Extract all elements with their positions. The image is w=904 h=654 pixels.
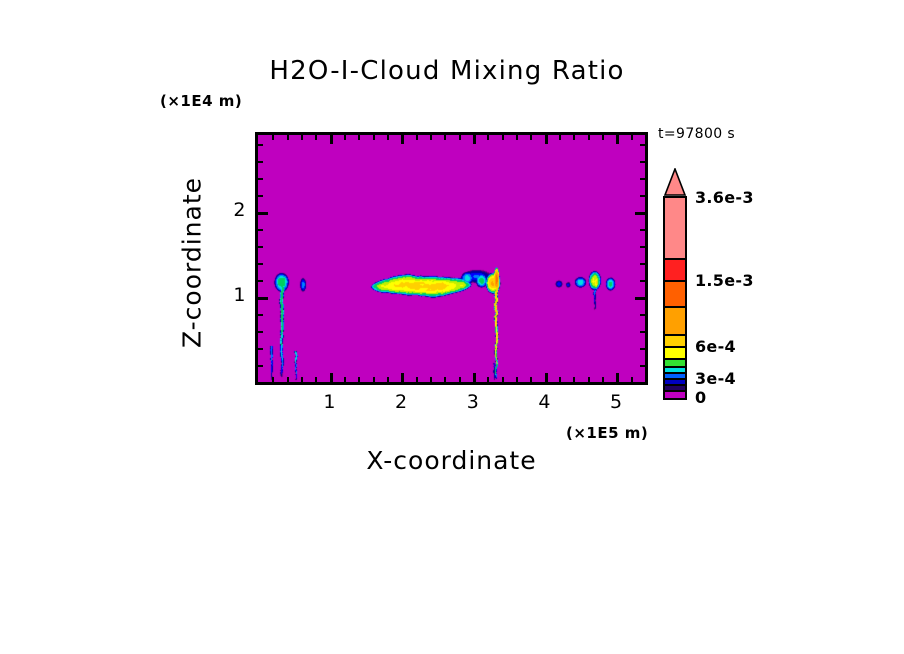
y-minor-tick-right xyxy=(640,195,645,197)
y-minor-tick-right xyxy=(640,144,645,146)
page-title: H2O-I-Cloud Mixing Ratio xyxy=(0,56,904,86)
colorbar-separator xyxy=(665,346,685,348)
y-major-tick xyxy=(258,297,268,300)
y-major-tick-right xyxy=(635,297,645,300)
x-minor-tick-top xyxy=(344,135,346,140)
x-minor-tick-top xyxy=(430,135,432,140)
colorbar-band xyxy=(665,281,685,307)
x-tick-label: 4 xyxy=(525,391,565,413)
page-title-text: H2O-I-Cloud Mixing Ratio xyxy=(269,56,624,86)
colorbar-band xyxy=(665,307,685,335)
y-tick-label: 2 xyxy=(206,199,246,221)
colorbar-band xyxy=(665,198,685,259)
x-minor-tick xyxy=(444,377,446,382)
x-minor-tick xyxy=(430,377,432,382)
x-minor-tick-top xyxy=(301,135,303,140)
colorbar-band xyxy=(665,259,685,281)
colorbar-separator xyxy=(665,280,685,282)
x-minor-tick-top xyxy=(459,135,461,140)
y-minor-tick-right xyxy=(640,348,645,350)
y-minor-tick xyxy=(258,365,263,367)
x-minor-tick xyxy=(502,377,504,382)
x-minor-tick-top xyxy=(358,135,360,140)
x-minor-tick-top xyxy=(502,135,504,140)
x-minor-tick-top xyxy=(444,135,446,140)
heatmap-canvas xyxy=(258,135,645,382)
plot-area xyxy=(255,132,648,385)
x-minor-tick-top xyxy=(631,135,633,140)
x-minor-tick-top xyxy=(387,135,389,140)
x-minor-tick xyxy=(287,377,289,382)
x-minor-tick xyxy=(573,377,575,382)
y-minor-tick xyxy=(258,331,263,333)
x-axis-title: X-coordinate xyxy=(255,446,648,475)
y-minor-tick xyxy=(258,178,263,180)
x-minor-tick-top xyxy=(416,135,418,140)
time-stamp-label: t=97800 s xyxy=(658,126,735,142)
x-minor-tick-top xyxy=(530,135,532,140)
colorbar-band xyxy=(665,391,685,398)
colorbar-tick-label: 3.6e-3 xyxy=(695,188,754,207)
colorbar-separator xyxy=(665,306,685,308)
x-major-tick xyxy=(616,373,619,382)
y-minor-tick-right xyxy=(640,263,645,265)
x-minor-tick-top xyxy=(272,135,274,140)
x-minor-tick xyxy=(516,377,518,382)
y-minor-tick-right xyxy=(640,246,645,248)
x-minor-tick xyxy=(530,377,532,382)
y-minor-tick-right xyxy=(640,178,645,180)
x-major-tick xyxy=(545,373,548,382)
colorbar-separator xyxy=(665,334,685,336)
x-major-tick xyxy=(473,373,476,382)
y-major-tick xyxy=(258,212,268,215)
colorbar-separator xyxy=(665,358,685,360)
x-major-tick-top xyxy=(545,135,548,144)
y-minor-tick xyxy=(258,263,263,265)
colorbar-tick-label: 6e-4 xyxy=(695,337,736,356)
x-minor-tick xyxy=(631,377,633,382)
y-minor-tick-right xyxy=(640,280,645,282)
y-minor-tick-right xyxy=(640,161,645,163)
colorbar-separator xyxy=(665,258,685,260)
y-minor-tick-right xyxy=(640,365,645,367)
x-axis-unit-label: (×1E5 m) xyxy=(566,424,648,442)
y-minor-tick-right xyxy=(640,314,645,316)
x-minor-tick-top xyxy=(487,135,489,140)
y-minor-tick xyxy=(258,144,263,146)
x-minor-tick xyxy=(315,377,317,382)
y-minor-tick xyxy=(258,161,263,163)
x-minor-tick xyxy=(373,377,375,382)
colorbar xyxy=(663,168,687,400)
x-tick-label: 1 xyxy=(310,391,350,413)
x-major-tick-top xyxy=(401,135,404,144)
y-minor-tick xyxy=(258,246,263,248)
x-minor-tick xyxy=(344,377,346,382)
x-minor-tick-top xyxy=(602,135,604,140)
x-tick-label: 2 xyxy=(381,391,421,413)
colorbar-tick-label: 3e-4 xyxy=(695,369,736,388)
x-minor-tick-top xyxy=(516,135,518,140)
y-minor-tick-right xyxy=(640,229,645,231)
x-minor-tick-top xyxy=(315,135,317,140)
y-minor-tick xyxy=(258,348,263,350)
x-minor-tick xyxy=(272,377,274,382)
y-minor-tick xyxy=(258,314,263,316)
x-minor-tick xyxy=(588,377,590,382)
colorbar-separator xyxy=(665,390,685,392)
y-axis-title-text: Z-coordinate xyxy=(178,163,207,363)
x-minor-tick xyxy=(602,377,604,382)
x-minor-tick-top xyxy=(373,135,375,140)
x-minor-tick-top xyxy=(287,135,289,140)
y-minor-tick xyxy=(258,195,263,197)
colorbar-extend-arrow-icon xyxy=(663,168,687,196)
x-minor-tick-top xyxy=(559,135,561,140)
y-axis-title: Z-coordinate xyxy=(179,160,205,360)
x-minor-tick xyxy=(459,377,461,382)
x-major-tick-top xyxy=(330,135,333,144)
x-minor-tick xyxy=(559,377,561,382)
colorbar-tick-label: 1.5e-3 xyxy=(695,271,754,290)
x-minor-tick xyxy=(301,377,303,382)
x-minor-tick-top xyxy=(573,135,575,140)
x-major-tick-top xyxy=(473,135,476,144)
colorbar-separator xyxy=(665,372,685,374)
colorbar-separator xyxy=(665,366,685,368)
y-minor-tick xyxy=(258,229,263,231)
y-minor-tick xyxy=(258,280,263,282)
x-major-tick xyxy=(330,373,333,382)
x-major-tick xyxy=(401,373,404,382)
y-axis-unit-label: (×1E4 m) xyxy=(160,92,242,110)
x-minor-tick xyxy=(487,377,489,382)
x-minor-tick xyxy=(416,377,418,382)
x-major-tick-top xyxy=(616,135,619,144)
y-tick-label: 1 xyxy=(206,284,246,306)
x-minor-tick-top xyxy=(588,135,590,140)
colorbar-separator xyxy=(665,384,685,386)
x-tick-label: 5 xyxy=(596,391,636,413)
y-major-tick-right xyxy=(635,212,645,215)
colorbar-separator xyxy=(665,378,685,380)
colorbar-bands xyxy=(663,196,687,400)
x-tick-label: 3 xyxy=(453,391,493,413)
colorbar-tick-label: 0 xyxy=(695,388,706,407)
y-minor-tick-right xyxy=(640,331,645,333)
x-minor-tick xyxy=(387,377,389,382)
x-minor-tick xyxy=(358,377,360,382)
